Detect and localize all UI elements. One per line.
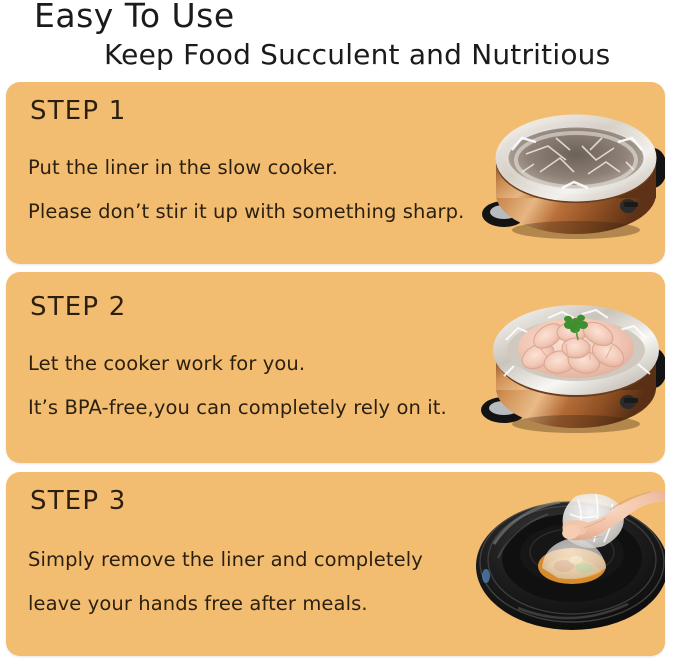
step-1-line-2: Please don’t stir it up with something s…: [28, 200, 464, 223]
slow-cooker-with-liner-photo: [478, 98, 665, 250]
page-title: Easy To Use: [34, 0, 235, 35]
step-1-heading: STEP 1: [30, 96, 127, 126]
step-3-heading: STEP 3: [30, 486, 127, 516]
step-2-line-1: Let the cooker work for you.: [28, 352, 305, 375]
page-subtitle: Keep Food Succulent and Nutritious: [104, 38, 610, 71]
step-card-2: STEP 2 Let the cooker work for you. It’s…: [6, 272, 665, 463]
step-card-1: STEP 1 Put the liner in the slow cooker.…: [6, 82, 665, 264]
step-2-line-2: It’s BPA-free,you can completely rely on…: [28, 396, 447, 419]
step-1-line-1: Put the liner in the slow cooker.: [28, 156, 338, 179]
step-2-heading: STEP 2: [30, 292, 127, 322]
step-card-3: STEP 3 Simply remove the liner and compl…: [6, 472, 665, 656]
slow-cooker-with-chicken-photo: [478, 284, 665, 449]
product-infographic: Easy To Use Keep Food Succulent and Nutr…: [0, 0, 679, 667]
hand-removing-liner-photo: [472, 480, 665, 645]
step-3-line-1: Simply remove the liner and completely: [28, 548, 423, 571]
step-3-line-2: leave your hands free after meals.: [28, 592, 368, 615]
